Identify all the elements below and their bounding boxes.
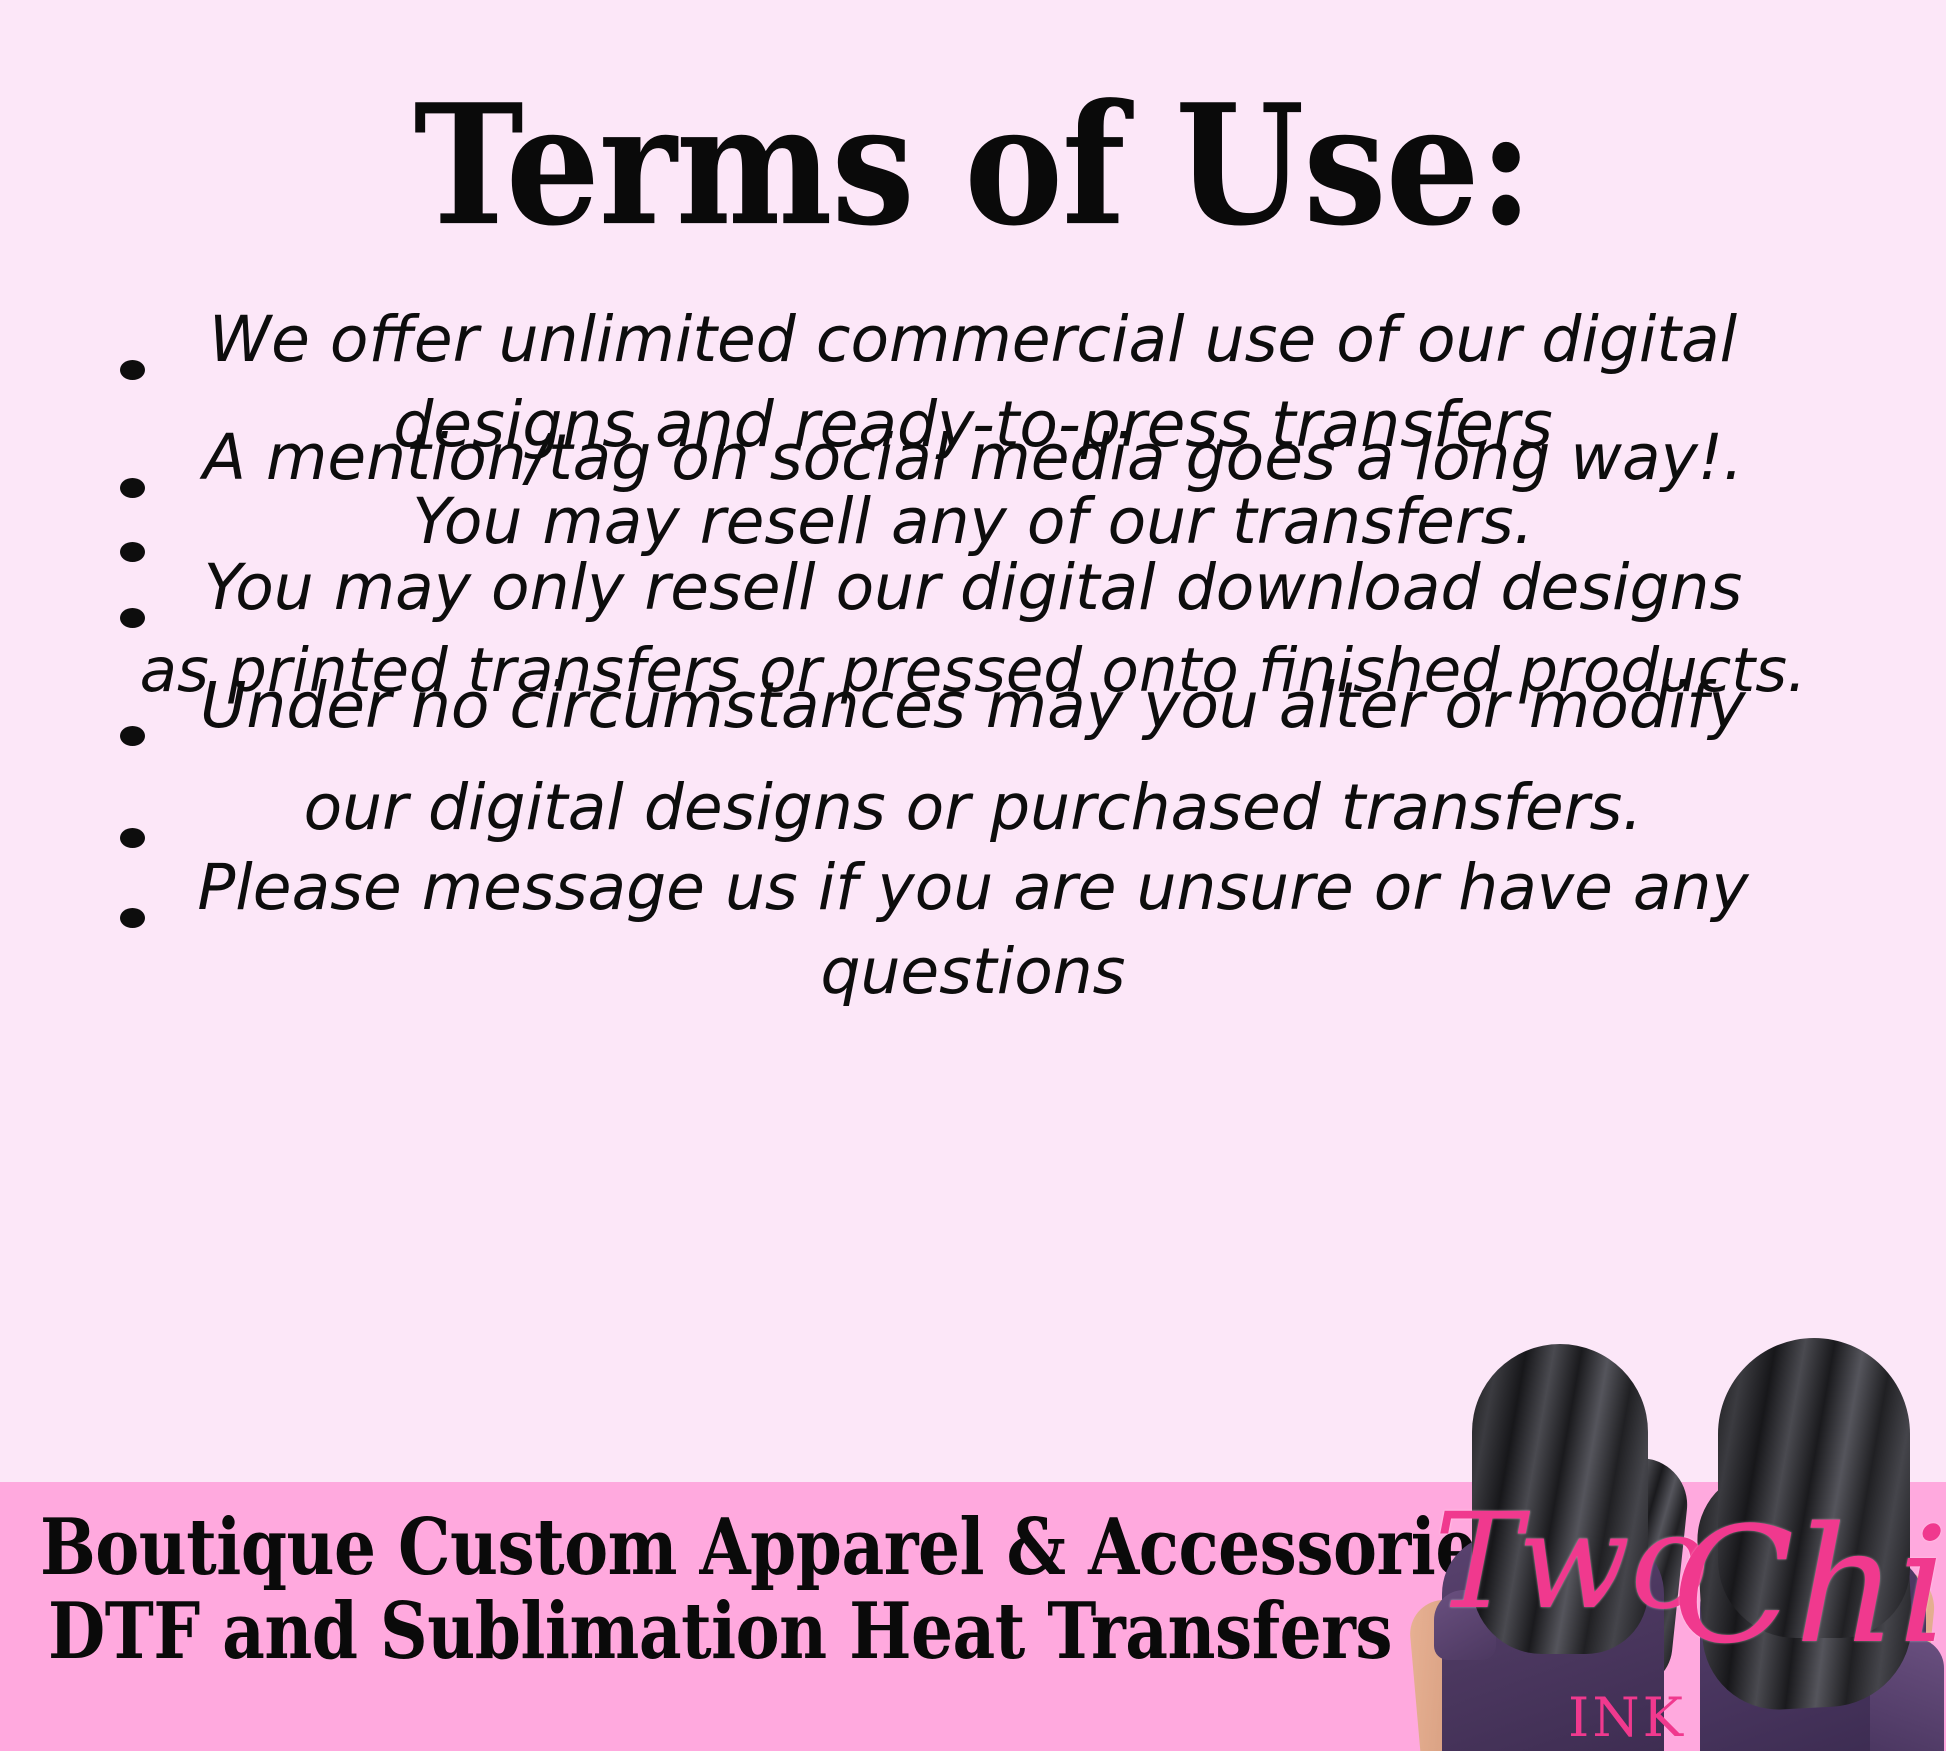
term-line: You may only resell our digital download… — [0, 556, 1946, 619]
term-line: questions — [0, 940, 1946, 1003]
term-line: our digital designs or purchased transfe… — [0, 776, 1946, 839]
term-line: Under no circumstances may you alter or … — [0, 674, 1946, 737]
logo-word-ink: INK — [1568, 1686, 1686, 1749]
term-line: A mention/tag on social media goes a lon… — [0, 426, 1946, 489]
term-line: We offer unlimited commercial use of our… — [0, 308, 1946, 371]
page-title: Terms of Use: — [0, 82, 1946, 248]
logo-word-two: Two — [1434, 1496, 1710, 1628]
two-chix-ink-logo: Two Chix INK — [1400, 1338, 1946, 1751]
logo-word-chix: Chix — [1672, 1506, 1946, 1666]
terms-of-use-graphic: Terms of Use: We offer unlimited commerc… — [0, 0, 1946, 1751]
footer-tagline-1: Boutique Custom Apparel & Accessories — [40, 1508, 1400, 1586]
term-line: You may resell any of our transfers. — [0, 490, 1946, 553]
footer-tagline-2: DTF and Sublimation Heat Transfers — [40, 1592, 1400, 1670]
term-line: Please message us if you are unsure or h… — [0, 856, 1946, 919]
